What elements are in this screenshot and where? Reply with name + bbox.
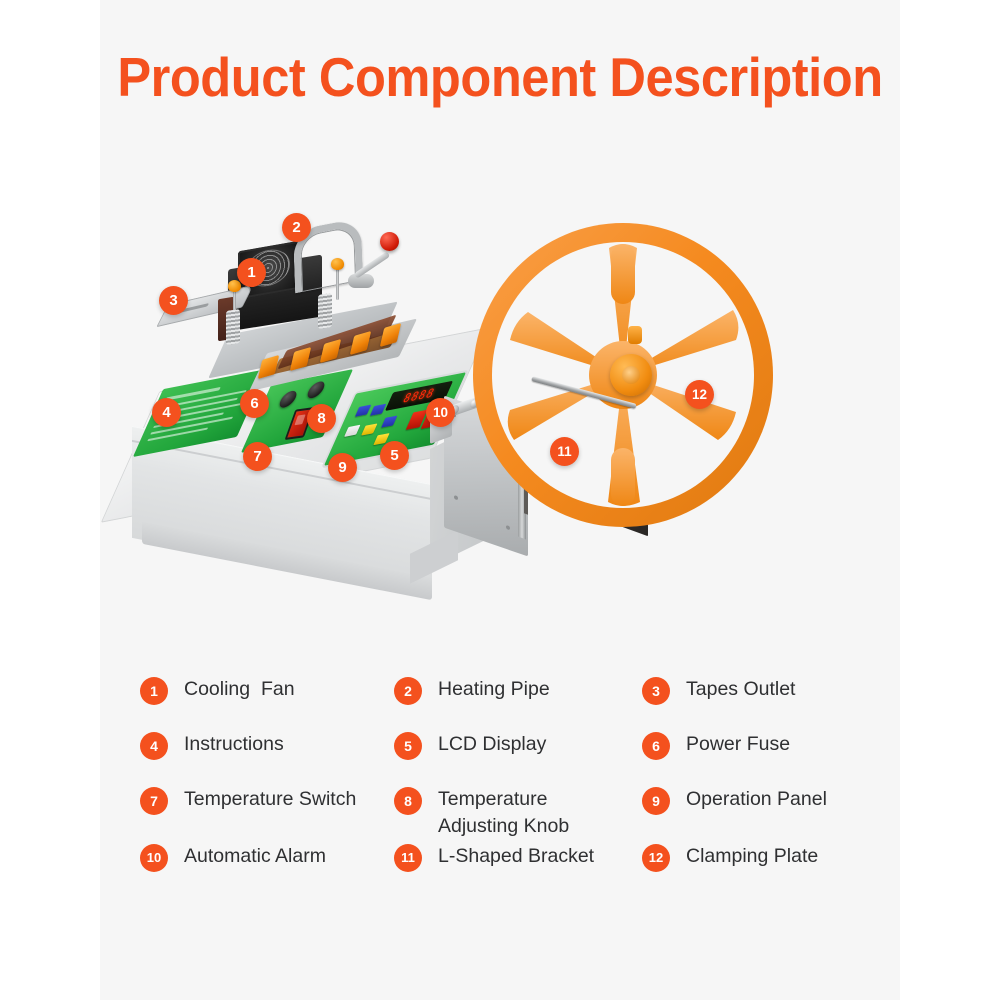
legend-badge-12: 12 <box>642 844 670 872</box>
legend-label-1: Cooling Fan <box>184 676 295 703</box>
legend-label-3: Tapes Outlet <box>686 676 795 703</box>
legend-badge-11: 11 <box>394 844 422 872</box>
legend-item-10: 10 Automatic Alarm <box>140 843 394 883</box>
legend-row: 10 Automatic Alarm 11 L-Shaped Bracket 1… <box>140 843 880 883</box>
legend-badge-7: 7 <box>140 787 168 815</box>
legend-label-6: Power Fuse <box>686 731 790 758</box>
callout-badge-1[interactable]: 1 <box>237 258 266 287</box>
legend-item-6: 6 Power Fuse <box>642 731 880 786</box>
legend-item-8: 8 Temperature Adjusting Knob <box>394 786 642 843</box>
legend-item-9: 9 Operation Panel <box>642 786 880 843</box>
legend-label-9: Operation Panel <box>686 786 827 813</box>
wheel-hub-center <box>622 366 640 384</box>
lever-hub <box>348 274 374 288</box>
clamping-plate-wheel <box>470 200 776 530</box>
callout-badge-3[interactable]: 3 <box>159 286 188 315</box>
legend-item-4: 4 Instructions <box>140 731 394 786</box>
legend-label-12: Clamping Plate <box>686 843 818 870</box>
spring-right <box>318 293 332 329</box>
legend-item-3: 3 Tapes Outlet <box>642 676 880 731</box>
wheel-lock-nub[interactable] <box>628 326 642 344</box>
legend-label-10: Automatic Alarm <box>184 843 326 870</box>
callout-badge-8[interactable]: 8 <box>307 404 336 433</box>
legend-label-2: Heating Pipe <box>438 676 550 703</box>
callout-badge-11[interactable]: 11 <box>550 437 579 466</box>
legend-label-4: Instructions <box>184 731 284 758</box>
legend-label-11: L-Shaped Bracket <box>438 843 594 870</box>
panel-button-blue-1[interactable] <box>355 405 371 417</box>
legend-row: 1 Cooling Fan 2 Heating Pipe 3 Tapes Out… <box>140 676 880 731</box>
panel-button-blue-2[interactable] <box>370 404 386 416</box>
callout-badge-10[interactable]: 10 <box>426 398 455 427</box>
legend-item-7: 7 Temperature Switch <box>140 786 394 843</box>
knob-stem-right <box>336 266 339 300</box>
legend-row: 4 Instructions 5 LCD Display 6 Power Fus… <box>140 731 880 786</box>
callout-badge-9[interactable]: 9 <box>328 453 357 482</box>
legend-item-1: 1 Cooling Fan <box>140 676 394 731</box>
infographic-page: Product Component Description <box>0 0 1000 1000</box>
page-title: Product Component Description <box>40 46 960 108</box>
lever-ball-handle[interactable] <box>380 232 399 251</box>
legend-badge-4: 4 <box>140 732 168 760</box>
legend-label-8: Temperature Adjusting Knob <box>438 786 569 840</box>
legend-badge-8: 8 <box>394 787 422 815</box>
legend-badge-9: 9 <box>642 787 670 815</box>
adjusting-knob-left[interactable] <box>228 280 241 292</box>
legend-badge-3: 3 <box>642 677 670 705</box>
legend-label-7: Temperature Switch <box>184 786 356 813</box>
legend-badge-1: 1 <box>140 677 168 705</box>
callout-badge-6[interactable]: 6 <box>240 389 269 418</box>
callout-badge-12[interactable]: 12 <box>685 380 714 409</box>
legend-item-11: 11 L-Shaped Bracket <box>394 843 642 883</box>
legend-label-5: LCD Display <box>438 731 546 758</box>
adjusting-knob-right[interactable] <box>331 258 344 270</box>
panel-button-yellow-1[interactable] <box>361 423 377 435</box>
legend-item-12: 12 Clamping Plate <box>642 843 880 883</box>
callout-badge-4[interactable]: 4 <box>152 398 181 427</box>
legend-item-2: 2 Heating Pipe <box>394 676 642 731</box>
callout-badge-7[interactable]: 7 <box>243 442 272 471</box>
legend-row: 7 Temperature Switch 8 Temperature Adjus… <box>140 786 880 843</box>
spring-left <box>226 309 240 345</box>
legend-badge-5: 5 <box>394 732 422 760</box>
legend-badge-6: 6 <box>642 732 670 760</box>
legend-item-5: 5 LCD Display <box>394 731 642 786</box>
legend-badge-10: 10 <box>140 844 168 872</box>
legend-badge-2: 2 <box>394 677 422 705</box>
product-illustration: 8888 <box>100 170 900 630</box>
power-fuse-cap-left[interactable] <box>277 390 299 409</box>
panel-button-blue-3[interactable] <box>381 416 397 428</box>
callout-badge-2[interactable]: 2 <box>282 213 311 242</box>
panel-button-white[interactable] <box>344 425 360 437</box>
callout-badge-5[interactable]: 5 <box>380 441 409 470</box>
component-legend: 1 Cooling Fan 2 Heating Pipe 3 Tapes Out… <box>140 676 880 883</box>
power-fuse-cap-right[interactable] <box>305 380 327 399</box>
